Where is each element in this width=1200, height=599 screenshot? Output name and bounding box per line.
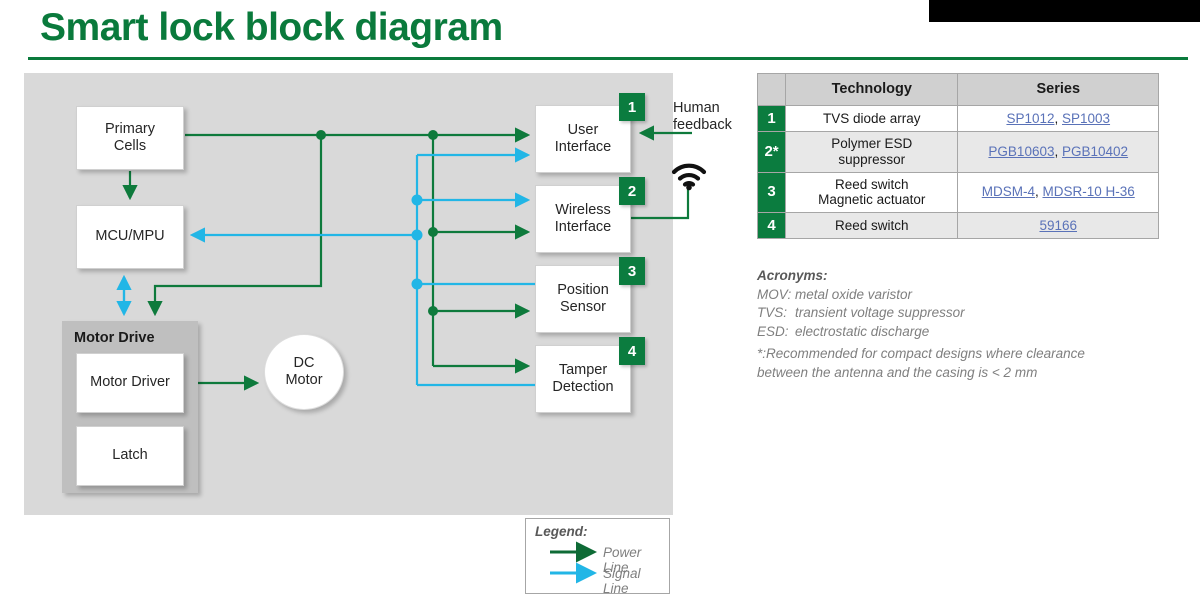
table-header-series: Series (958, 74, 1159, 106)
group-motor-drive-title: Motor Drive (74, 330, 155, 346)
block-dc-motor[interactable]: DCMotor (264, 334, 344, 410)
block-label: UserInterface (555, 122, 611, 156)
block-latch[interactable]: Latch (76, 426, 184, 486)
series-link[interactable]: 59166 (1039, 218, 1077, 233)
legend-box: Legend: Power Line Signal Line (525, 518, 670, 594)
acronym-row: MOV: metal oxide varistor (757, 286, 1157, 305)
row-index-badge: 2* (758, 132, 786, 172)
table-header-row: Technology Series (758, 74, 1159, 106)
row-index-badge: 1 (758, 105, 786, 131)
block-tamper-detection[interactable]: TamperDetection (535, 345, 631, 413)
row-series: MDSM-4, MDSR-10 H-36 (958, 172, 1159, 212)
block-label: WirelessInterface (555, 202, 611, 236)
legend-signal-label: Signal Line (603, 566, 669, 596)
block-motor-driver[interactable]: Motor Driver (76, 353, 184, 413)
acronym-row: TVS: transient voltage suppressor (757, 304, 1157, 323)
row-technology: Polymer ESD suppressor (786, 132, 958, 172)
badge-2[interactable]: 2 (619, 177, 645, 205)
row-index-badge: 3 (758, 172, 786, 212)
table-row: 4 Reed switch 59166 (758, 212, 1159, 238)
row-technology: Reed switch (786, 212, 958, 238)
block-label: PositionSensor (557, 282, 609, 316)
acronym-value: transient voltage suppressor (795, 304, 965, 323)
badge-4[interactable]: 4 (619, 337, 645, 365)
footnote-line-1: *:Recommended for compact designs where … (757, 346, 1085, 361)
series-separator: , (1054, 144, 1062, 159)
block-label: Motor Driver (90, 374, 170, 391)
block-mcu-mpu[interactable]: MCU/MPU (76, 205, 184, 269)
acronyms-block: Acronyms: MOV: metal oxide varistor TVS:… (757, 267, 1157, 342)
row-index-badge: 4 (758, 212, 786, 238)
block-label: PrimaryCells (105, 121, 155, 155)
badge-1[interactable]: 1 (619, 93, 645, 121)
series-link[interactable]: PGB10603 (988, 144, 1054, 159)
series-link[interactable]: SP1012 (1006, 111, 1054, 126)
acronym-key: MOV: (757, 286, 795, 305)
acronym-key: TVS: (757, 304, 795, 323)
block-user-interface[interactable]: UserInterface (535, 105, 631, 173)
series-link[interactable]: SP1003 (1062, 111, 1110, 126)
row-series: SP1012, SP1003 (958, 105, 1159, 131)
acronym-value: metal oxide varistor (795, 286, 912, 305)
series-link[interactable]: MDSR-10 H-36 (1042, 184, 1134, 199)
acronym-row: ESD: electrostatic discharge (757, 323, 1157, 342)
human-feedback-label: Human feedback (673, 100, 745, 134)
row-series: PGB10603, PGB10402 (958, 132, 1159, 172)
block-label: MCU/MPU (95, 228, 164, 245)
series-separator: , (1054, 111, 1062, 126)
footnote-line-2: between the antenna and the casing is < … (757, 365, 1037, 380)
acronyms-title: Acronyms: (757, 267, 1157, 286)
block-label: TamperDetection (552, 362, 613, 396)
page-title: Smart lock block diagram (40, 6, 503, 50)
footnote: *:Recommended for compact designs where … (757, 345, 1147, 383)
block-primary-cells[interactable]: PrimaryCells (76, 106, 184, 170)
row-series: 59166 (958, 212, 1159, 238)
block-label: Latch (112, 447, 147, 464)
table-row: 3 Reed switch Magnetic actuator MDSM-4, … (758, 172, 1159, 212)
top-black-bar (929, 0, 1200, 22)
table-header-index (758, 74, 786, 106)
acronym-key: ESD: (757, 323, 795, 342)
badge-3[interactable]: 3 (619, 257, 645, 285)
technology-table: Technology Series 1 TVS diode array SP10… (757, 73, 1159, 239)
acronym-value: electrostatic discharge (795, 323, 929, 342)
table-row: 1 TVS diode array SP1012, SP1003 (758, 105, 1159, 131)
table-header-technology: Technology (786, 74, 958, 106)
wifi-icon (671, 160, 707, 194)
row-technology: TVS diode array (786, 105, 958, 131)
block-label: DCMotor (285, 355, 322, 389)
title-divider (28, 57, 1188, 60)
row-technology: Reed switch Magnetic actuator (786, 172, 958, 212)
block-position-sensor[interactable]: PositionSensor (535, 265, 631, 333)
block-wireless-interface[interactable]: WirelessInterface (535, 185, 631, 253)
series-link[interactable]: MDSM-4 (982, 184, 1035, 199)
table-row: 2* Polymer ESD suppressor PGB10603, PGB1… (758, 132, 1159, 172)
series-link[interactable]: PGB10402 (1062, 144, 1128, 159)
